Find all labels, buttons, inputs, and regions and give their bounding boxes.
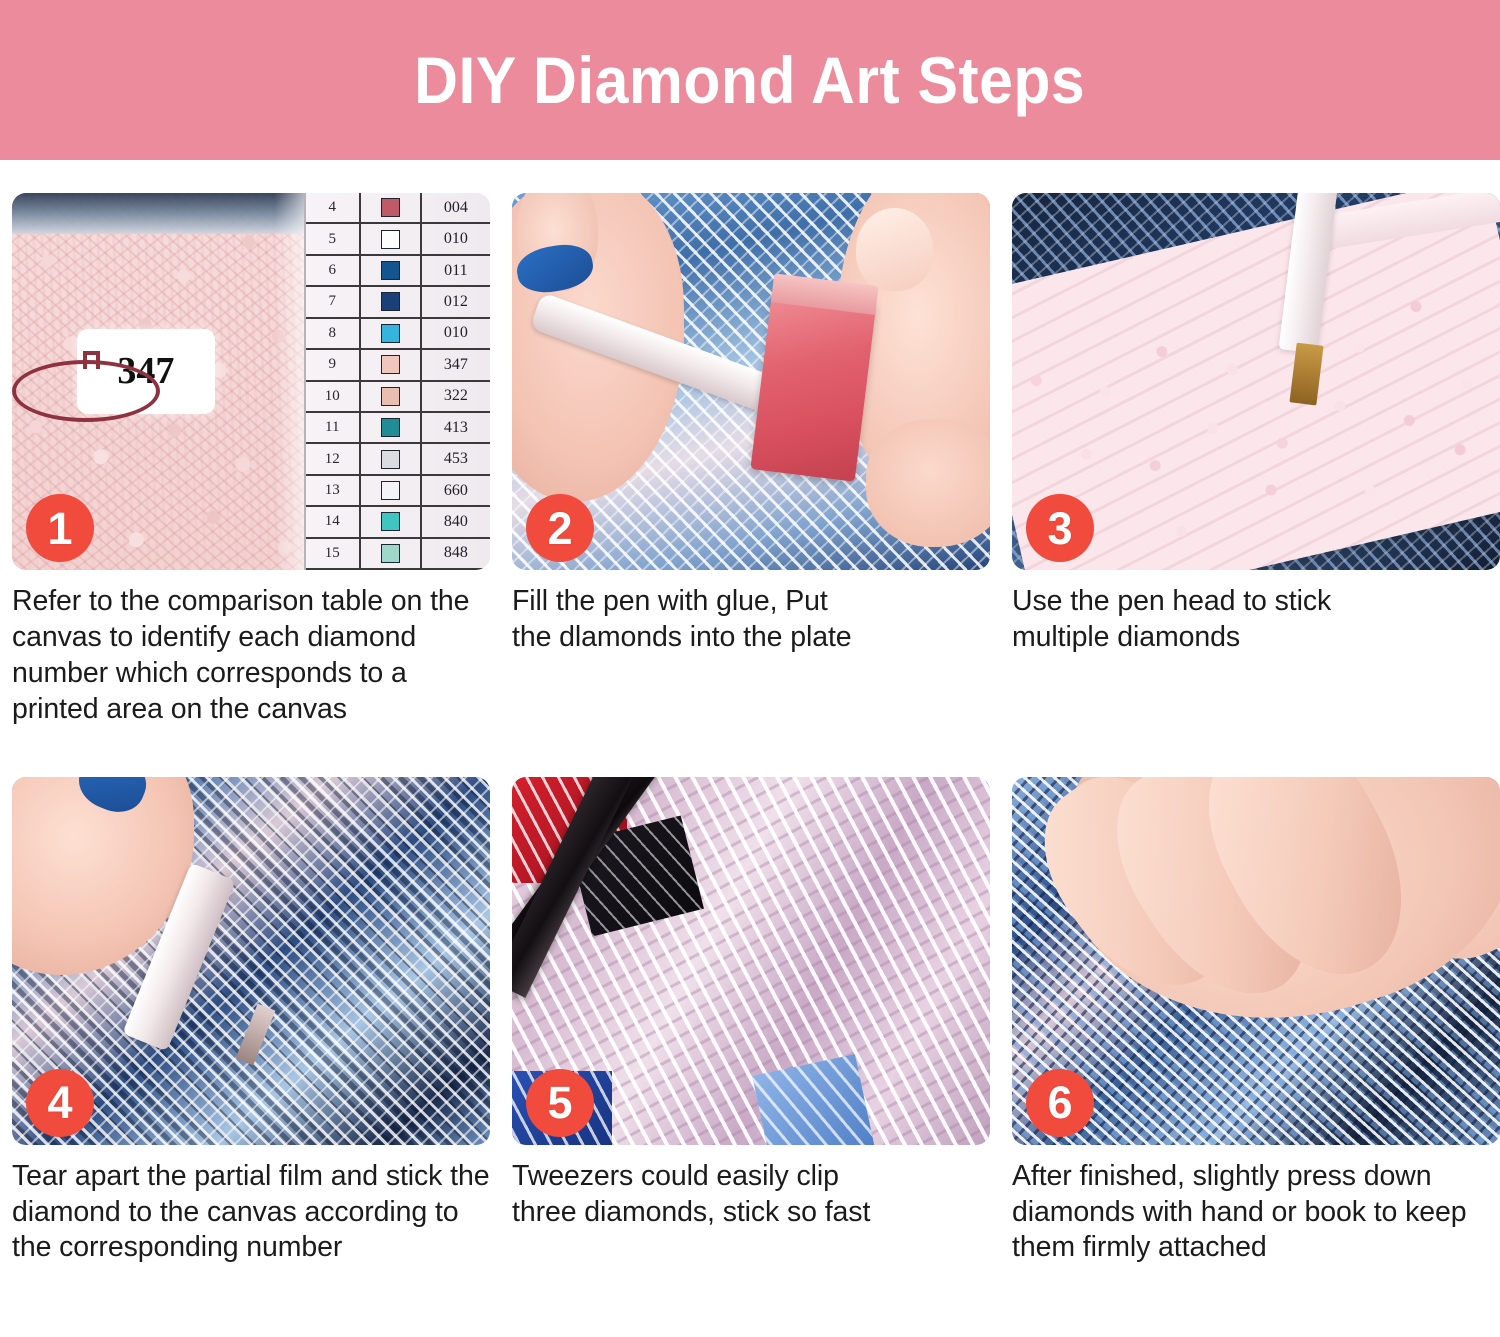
step-caption-5: Tweezers could easily clip three diamond… (512, 1159, 990, 1231)
chart-row: 11 413 (306, 413, 490, 444)
chart-row-code: 413 (422, 419, 490, 437)
chart-row-index: 15 (306, 539, 361, 568)
step-3-image: 3 (1012, 193, 1500, 570)
step-badge-4: 4 (26, 1069, 94, 1137)
chart-row-index: 11 (306, 413, 361, 442)
color-swatch-icon (381, 230, 400, 249)
chart-row-code: 011 (422, 262, 490, 280)
step-badge-5: 5 (526, 1069, 594, 1137)
step-card-5: 5 Tweezers could easily clip three diamo… (512, 777, 990, 1267)
step-2-image: 2 (512, 193, 990, 570)
diamond-number-value: 347 (117, 349, 174, 393)
chart-row-swatch-cell (361, 444, 422, 473)
step-1-image: 347 4 004 5 010 6 011 (12, 193, 490, 570)
step-card-2: 2 Fill the pen with glue, Put the dlamon… (512, 193, 990, 728)
step-4-image: 4 (12, 777, 490, 1145)
chart-row: 14 840 (306, 507, 490, 538)
chart-row-swatch-cell (361, 539, 422, 568)
chart-row-code: 012 (422, 293, 490, 311)
color-swatch-icon (381, 481, 400, 500)
chart-row-code: 010 (422, 230, 490, 248)
color-swatch-icon (381, 544, 400, 563)
bag-seal-graphic (12, 193, 308, 234)
glue-pad-graphic (750, 289, 876, 481)
color-swatch-icon (381, 261, 400, 280)
step-card-4: 4 Tear apart the partial film and stick … (12, 777, 490, 1267)
chart-row-code: 010 (422, 324, 490, 342)
chart-row-swatch-cell (361, 382, 422, 411)
diamond-number-label: 347 (77, 329, 216, 414)
chart-row: 8 010 (306, 319, 490, 350)
step-caption-3: Use the pen head to stick multiple diamo… (1012, 584, 1500, 656)
step-badge-6: 6 (1026, 1069, 1094, 1137)
chart-row: 5 010 (306, 224, 490, 255)
right-finger-graphic (866, 419, 990, 547)
step-caption-6: After finished, slightly press down diam… (1012, 1159, 1500, 1267)
chart-row-swatch-cell (361, 224, 422, 253)
chart-row-highlighted: 9 347 (306, 350, 490, 381)
chart-row: 12 453 (306, 444, 490, 475)
chart-row-code: 660 (422, 482, 490, 500)
step-6-image: 6 (1012, 777, 1500, 1145)
step-caption-1: Refer to the comparison table on the can… (12, 584, 482, 728)
color-swatch-icon (381, 324, 400, 343)
chart-row-code: 840 (422, 513, 490, 531)
chart-row: 13 660 (306, 476, 490, 507)
chart-row-index: 14 (306, 507, 361, 536)
steps-grid-row-2: 4 Tear apart the partial film and stick … (0, 728, 1500, 1267)
color-swatch-icon (381, 418, 400, 437)
color-swatch-icon (381, 512, 400, 531)
chart-row: 7 012 (306, 287, 490, 318)
step-badge-1: 1 (26, 494, 94, 562)
chart-row-index: 5 (306, 224, 361, 253)
page-header: DIY Diamond Art Steps (0, 0, 1500, 160)
chart-row-swatch-cell (361, 507, 422, 536)
steps-grid-row-1: 347 4 004 5 010 6 011 (0, 160, 1500, 728)
chart-row-swatch-cell (361, 256, 422, 285)
chart-row-index: 7 (306, 287, 361, 316)
step-card-1: 347 4 004 5 010 6 011 (12, 193, 490, 728)
step-caption-2: Fill the pen with glue, Put the dlamonds… (512, 584, 990, 656)
step-card-6: 6 After finished, slightly press down di… (1012, 777, 1500, 1267)
step-card-3: 3 Use the pen head to stick multiple dia… (1012, 193, 1500, 728)
chart-row-index: 9 (306, 350, 361, 379)
chart-row-code: 848 (422, 544, 490, 562)
chart-row-swatch-cell (361, 413, 422, 442)
chart-row-swatch-cell (361, 287, 422, 316)
chart-row: 4 004 (306, 193, 490, 224)
color-swatch-icon (381, 355, 400, 374)
chart-row-code: 453 (422, 450, 490, 468)
color-comparison-chart: 4 004 5 010 6 011 7 012 (304, 193, 490, 570)
chart-row-code: 322 (422, 387, 490, 405)
color-swatch-icon (381, 198, 400, 217)
step-badge-3: 3 (1026, 494, 1094, 562)
chart-row: 15 848 (306, 539, 490, 570)
fingernail-graphic (856, 208, 932, 291)
chart-row-index: 6 (306, 256, 361, 285)
step-5-image: 5 (512, 777, 990, 1145)
color-swatch-icon (381, 450, 400, 469)
chart-row-code: 004 (422, 199, 490, 217)
chart-row: 10 322 (306, 382, 490, 413)
step-caption-4: Tear apart the partial film and stick th… (12, 1159, 490, 1267)
chart-row-swatch-cell (361, 350, 422, 379)
chart-row: 6 011 (306, 256, 490, 287)
chart-row-swatch-cell (361, 476, 422, 505)
step-badge-2: 2 (526, 494, 594, 562)
chart-row-index: 8 (306, 319, 361, 348)
chart-row-swatch-cell (361, 319, 422, 348)
chart-row-index: 12 (306, 444, 361, 473)
chart-row-index: 4 (306, 193, 361, 222)
page-title: DIY Diamond Art Steps (415, 47, 1086, 113)
chart-row-index: 10 (306, 382, 361, 411)
color-swatch-icon (381, 292, 400, 311)
color-swatch-icon (381, 387, 400, 406)
chart-row-index: 13 (306, 476, 361, 505)
chart-row-code: 347 (422, 356, 490, 374)
chart-row-swatch-cell (361, 193, 422, 222)
